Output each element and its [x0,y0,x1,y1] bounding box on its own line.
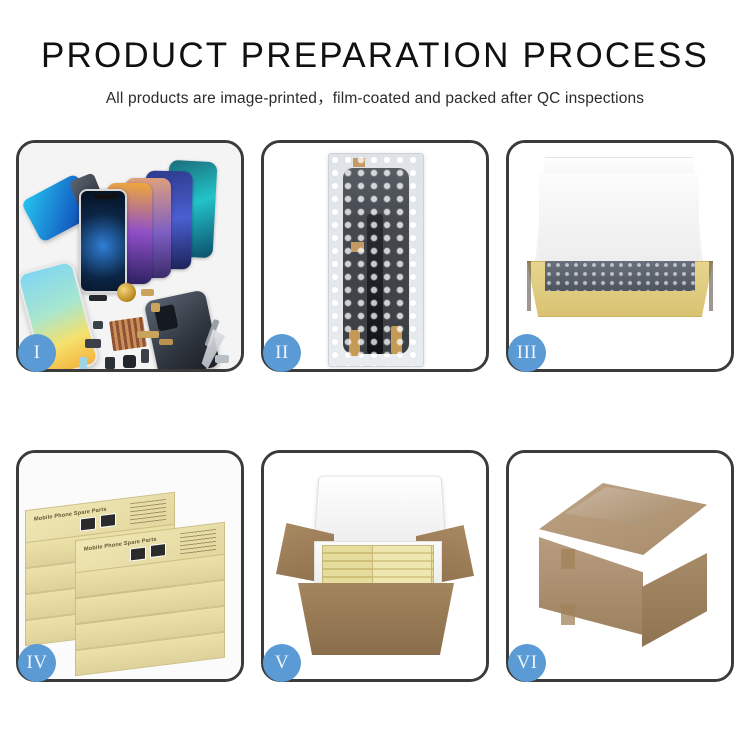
part-icon [137,331,159,338]
step-badge-6: VI [508,644,546,682]
foam-sheet-icon [539,173,699,261]
step-3-image [509,143,731,369]
tape-icon [351,242,364,252]
part-icon [105,357,115,369]
step-badge-2: II [263,334,301,372]
process-step-4[interactable]: Mobile Phone Spare Parts Mobile Phone Sp… [16,450,244,682]
box-edge-icon [527,261,531,311]
part-icon [141,289,154,296]
part-icon [123,355,136,368]
part-icon [79,357,87,369]
carton-front-icon [539,537,643,635]
box-thumbnail [150,543,166,558]
step-badge-1: I [18,334,56,372]
box-spec-lines [180,529,216,555]
step-6-image [509,453,731,679]
box-edge-icon [709,261,713,311]
carton-body-icon [298,583,454,655]
screen-glass-icon [79,189,127,293]
connector-icon [349,330,360,356]
carton-tape-icon [561,549,575,569]
page-title: PRODUCT PREPARATION PROCESS [0,38,750,75]
flex-cable-icon [367,214,383,354]
step-badge-4: IV [18,644,56,682]
page-subtitle: All products are image-printed，film-coat… [0,86,750,108]
part-icon [159,339,173,345]
step-badge-3: III [508,334,546,372]
part-icon [141,349,149,363]
connector-icon [391,326,402,354]
part-icon [93,321,103,329]
box-stack: Mobile Phone Spare Parts Mobile Phone Sp… [25,471,235,671]
process-grid: I II III [16,140,734,682]
part-icon [89,295,107,301]
process-step-2[interactable]: II [261,140,489,372]
yellow-boxes-fill-icon [372,545,432,587]
box-thumbnail [130,546,146,561]
box-thumbnail [100,513,116,528]
page-header: PRODUCT PREPARATION PROCESS All products… [0,0,750,108]
part-icon [215,355,229,363]
carton-side-icon [642,553,707,647]
gold-disc-icon [117,283,136,302]
box-spec-lines [130,499,166,525]
tape-icon [353,158,365,167]
step-4-image: Mobile Phone Spare Parts Mobile Phone Sp… [19,453,241,679]
carton-tape-icon [561,605,575,625]
step-2-image [264,143,486,369]
process-step-6[interactable]: VI [506,450,734,682]
bubble-wrap-fill-icon [545,261,695,291]
step-badge-5: V [263,644,301,682]
box-thumbnail [80,516,96,531]
step-1-image [19,143,241,369]
part-icon [151,303,160,312]
step-5-image [264,453,486,679]
process-step-3[interactable]: III [506,140,734,372]
bubble-bag-icon [328,153,424,367]
process-step-1[interactable]: I [16,140,244,372]
part-icon [85,339,101,348]
process-step-5[interactable]: V [261,450,489,682]
